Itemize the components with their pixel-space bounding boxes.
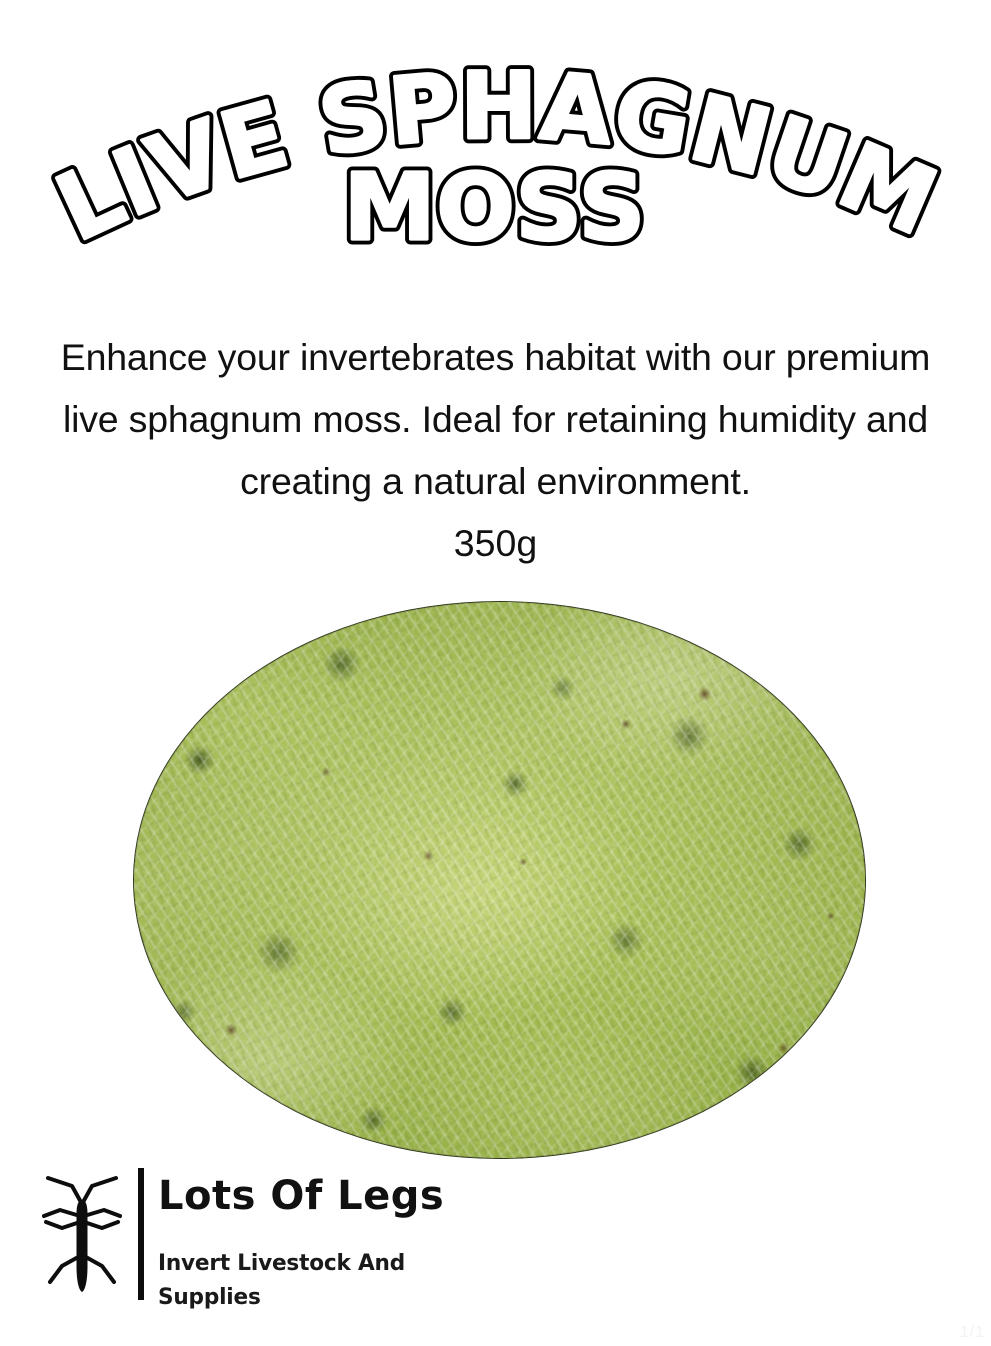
- logo-brand-name: Lots Of Legs: [158, 1168, 488, 1224]
- product-image-moss: [133, 601, 866, 1159]
- logo-tagline: Invert Livestock And Supplies: [158, 1246, 475, 1314]
- product-description: Enhance your invertebrates habitat with …: [42, 326, 949, 512]
- product-weight: 350g: [42, 516, 949, 570]
- title-line-2: MOSS MOSS MOSS: [344, 154, 646, 261]
- wordart-title-svg: LIVE SPHAGNUM LIVE SPHAGNUM LIVE SPHAGNU…: [0, 54, 991, 254]
- logo-text-block: Lots Of Legs Invert Livestock And Suppli…: [158, 1168, 488, 1314]
- page-number-mark: 1/1: [960, 1324, 985, 1342]
- product-flyer-page: LIVE SPHAGNUM LIVE SPHAGNUM LIVE SPHAGNU…: [0, 0, 991, 1346]
- description-line-3: creating a natural environment.: [42, 450, 949, 512]
- moss-texture-vignette: [133, 601, 866, 1159]
- brand-logo: Lots Of Legs Invert Livestock And Suppli…: [38, 1168, 478, 1300]
- title-line2-innerstroke: MOSS: [344, 154, 646, 261]
- description-line-2: live sphagnum moss. Ideal for retaining …: [42, 388, 949, 450]
- stick-insect-icon: [38, 1170, 126, 1296]
- page-title: LIVE SPHAGNUM LIVE SPHAGNUM LIVE SPHAGNU…: [0, 54, 991, 254]
- description-line-1: Enhance your invertebrates habitat with …: [42, 326, 949, 388]
- insect-body: [77, 1200, 88, 1292]
- logo-divider: [138, 1168, 144, 1300]
